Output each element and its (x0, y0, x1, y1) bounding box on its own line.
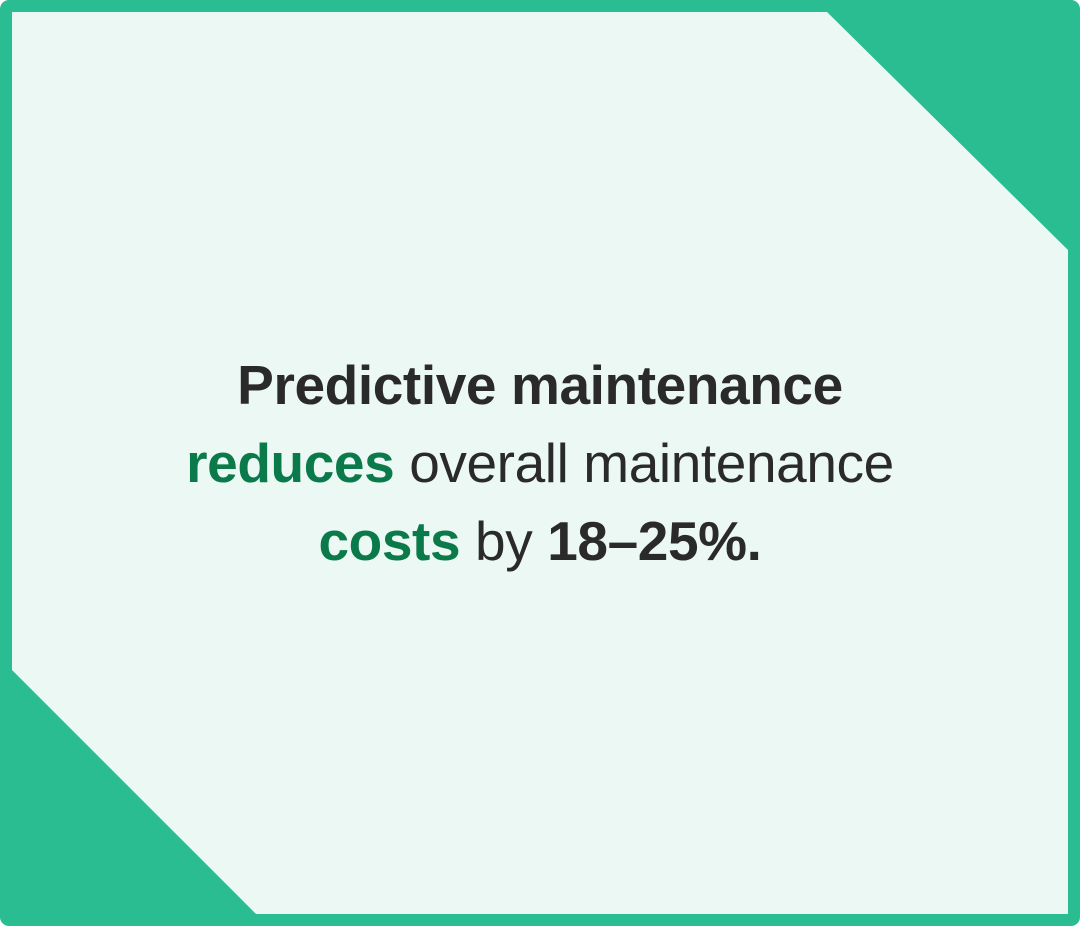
headline-accent-reduces: reduces (186, 432, 394, 494)
headline-line3-middle: by (460, 510, 547, 572)
page-title: Predictive maintenance reduces overall m… (126, 346, 954, 580)
headline-line1-text: Predictive maintenance (237, 354, 843, 416)
headline-line-2: reduces overall maintenance (186, 424, 894, 502)
headline-line-1: Predictive maintenance (186, 346, 894, 424)
headline-line2-rest: overall maintenance (394, 432, 894, 494)
stat-card: Predictive maintenance reduces overall m… (0, 0, 1080, 926)
headline-accent-costs: costs (318, 510, 460, 572)
headline-line-3: costs by 18–25%. (186, 502, 894, 580)
headline-stat-value: 18–25%. (547, 510, 761, 572)
card-text-block: Predictive maintenance reduces overall m… (0, 0, 1080, 926)
